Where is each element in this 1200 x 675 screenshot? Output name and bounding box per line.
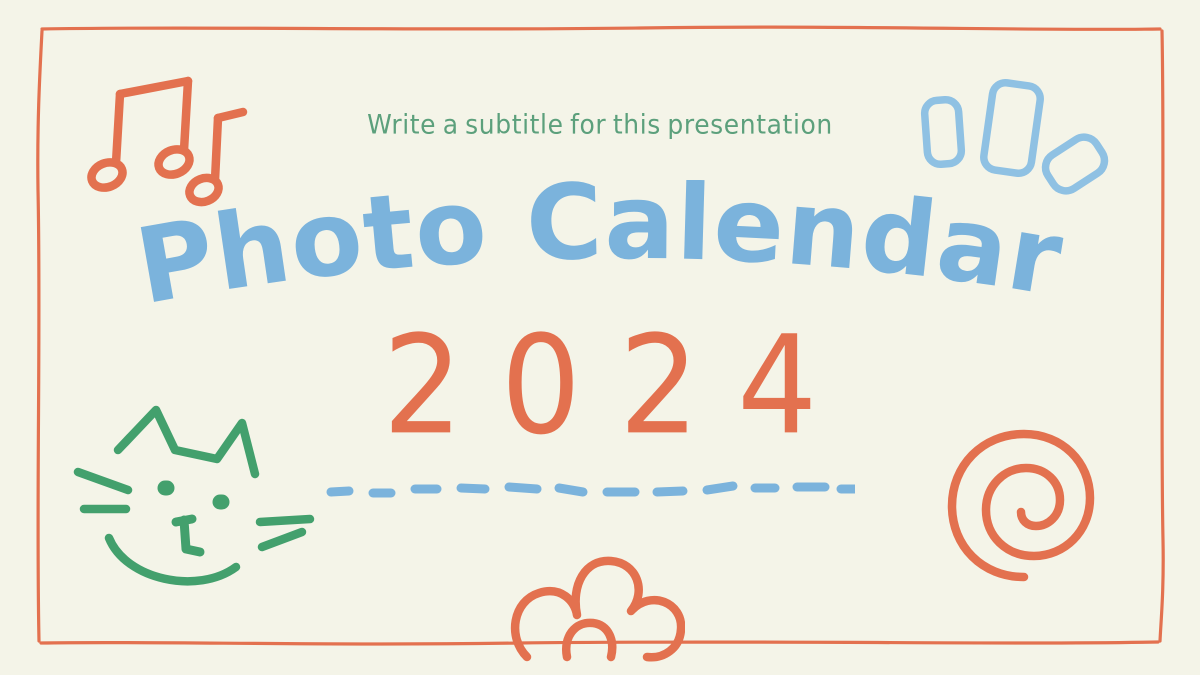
spiral-icon [942, 422, 1112, 592]
dashed-line-icon [325, 478, 855, 504]
subtitle-text[interactable]: Write a subtitle for this presentation [367, 109, 833, 140]
confetti-rectangles-icon [912, 72, 1122, 220]
year-text[interactable]: 2024 [345, 315, 856, 458]
music-notes-icon [85, 68, 265, 213]
presentation-slide: Write a subtitle for this presentation P… [0, 0, 1200, 675]
cat-face-icon [70, 392, 322, 592]
flower-icon [505, 545, 685, 675]
